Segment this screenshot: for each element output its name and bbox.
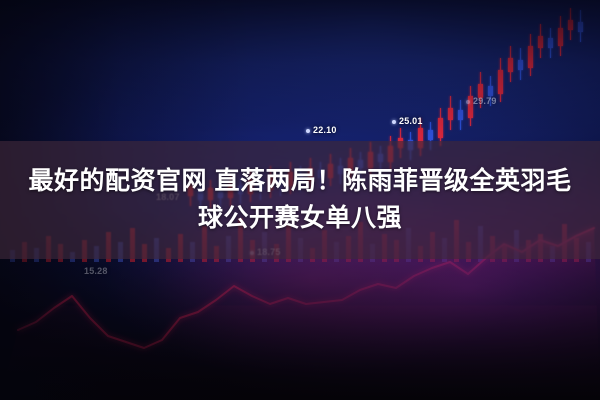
price-label-text: 22.10 [313, 125, 337, 135]
headline-line-1: 最好的配资官网 直落两局！陈雨菲晋级全英羽毛 [29, 165, 572, 198]
price-label-29-79: 29.79 [466, 96, 497, 106]
headline-container: 最好的配资官网 直落两局！陈雨菲晋级全英羽毛 球公开赛女单八强 [0, 141, 600, 259]
price-marker-dot [466, 100, 470, 104]
price-label-text: 29.79 [473, 96, 497, 106]
price-label-text: 25.01 [399, 116, 423, 126]
headline-line-2: 球公开赛女单八强 [198, 202, 402, 235]
price-marker-dot [306, 129, 310, 133]
price-label-25-01: 25.01 [392, 116, 423, 126]
image-canvas: 22.10 25.01 29.79 18.07 18.75 15.28 最好的配… [0, 0, 600, 400]
price-label-15-28: 15.28 [84, 266, 108, 276]
price-marker-dot [392, 120, 396, 124]
price-label-22-10: 22.10 [306, 125, 337, 135]
price-label-text: 15.28 [84, 266, 108, 276]
